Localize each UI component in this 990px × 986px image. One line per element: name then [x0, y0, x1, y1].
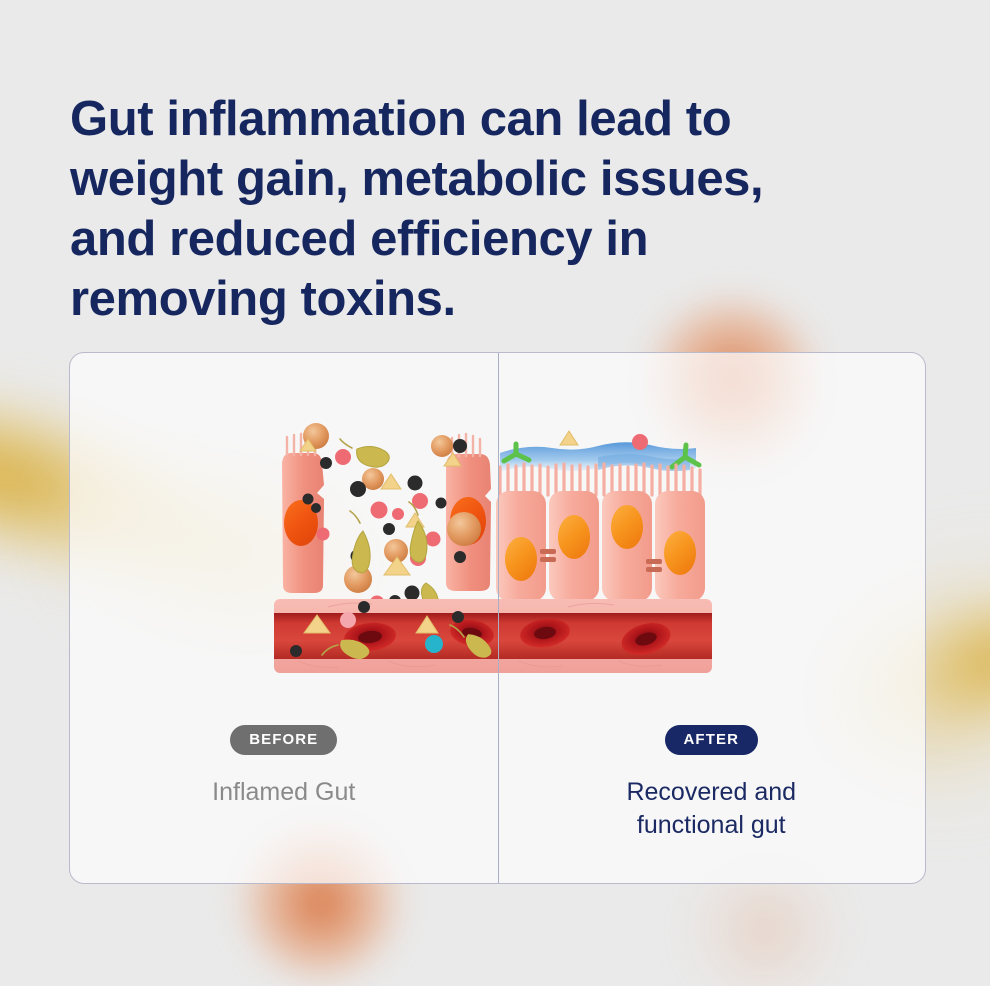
blood-vessel [274, 599, 712, 673]
after-caption: Recovered and functional gut [626, 776, 796, 842]
nutrient-particle [632, 434, 648, 450]
page-title: Gut inflammation can lead to weight gain… [70, 89, 900, 329]
healthy-epithelial-cells [496, 491, 705, 601]
before-caption: Inflamed Gut [212, 776, 355, 809]
panel-labels: BEFORE Inflamed Gut AFTER Recovered and … [70, 725, 925, 865]
after-badge: AFTER [665, 725, 759, 755]
healthy-gut-illustration [496, 431, 705, 601]
nutrient-triangle [560, 431, 578, 445]
before-after-comparison-card: BEFORE Inflamed Gut AFTER Recovered and … [69, 352, 926, 884]
before-badge: BEFORE [230, 725, 337, 755]
after-panel-labels: AFTER Recovered and functional gut [498, 725, 926, 865]
damaged-epithelial-cell-left [282, 434, 324, 593]
before-panel-labels: BEFORE Inflamed Gut [70, 725, 498, 865]
